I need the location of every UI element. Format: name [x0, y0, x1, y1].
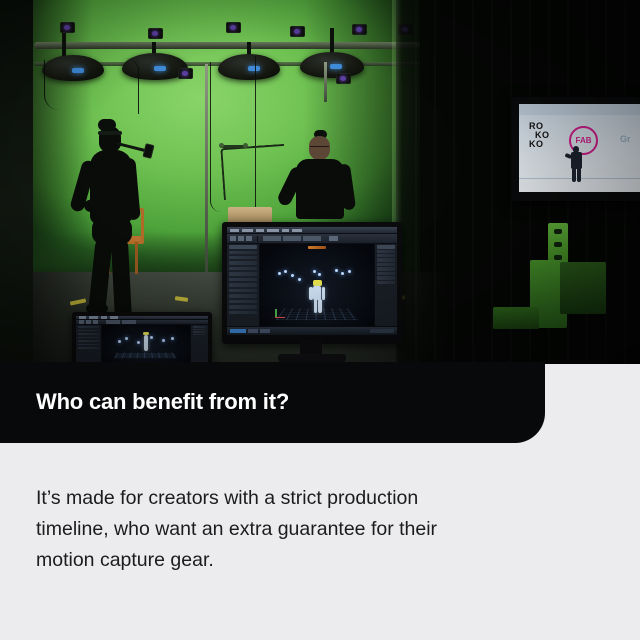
panel-row[interactable] — [229, 311, 257, 314]
panel-row[interactable] — [377, 258, 395, 261]
panel-row[interactable] — [229, 300, 257, 303]
mocap-marker — [284, 270, 287, 273]
menu-item[interactable] — [89, 316, 98, 319]
status-chip — [370, 329, 394, 333]
panel-row[interactable] — [229, 251, 257, 254]
lamp-status-led — [72, 68, 84, 73]
viewport-avatar-arm — [322, 287, 325, 300]
mocap-marker — [335, 269, 338, 272]
app-3d-viewport[interactable] — [102, 325, 190, 362]
wall-display-topbar — [519, 104, 640, 115]
hanging-cable — [210, 62, 221, 212]
panel-row[interactable] — [377, 263, 395, 266]
panel-row[interactable] — [78, 330, 99, 332]
app-3d-viewport-main[interactable] — [260, 244, 374, 326]
studio-left-dark-column — [0, 0, 33, 364]
light-stand-pole — [324, 62, 327, 102]
wall-display-figure-leg — [577, 167, 581, 182]
mocap-marker — [348, 270, 351, 273]
toolbar-button[interactable] — [122, 320, 136, 324]
mocap-marker — [137, 341, 140, 344]
toolbar-button[interactable] — [246, 236, 252, 241]
app-body — [227, 244, 397, 326]
menu-item[interactable] — [79, 316, 86, 319]
wall-display-ghost-text: Gr — [620, 134, 631, 144]
panel-header-row[interactable] — [377, 245, 395, 248]
wall-display-frame: RO KO KO FAB Gr — [512, 97, 640, 201]
mocap-marker — [313, 270, 316, 273]
panel-row[interactable] — [377, 254, 395, 257]
panel-row[interactable] — [229, 267, 257, 270]
mocap-camera — [226, 22, 241, 33]
wall-display-screen: RO KO KO FAB Gr — [519, 104, 640, 192]
mocap-software-window-main — [227, 227, 397, 335]
calibration-wand-shaft — [220, 144, 287, 200]
panel-row[interactable] — [78, 347, 99, 349]
page-root: RO KO KO FAB Gr — [0, 0, 640, 640]
panel-row[interactable] — [229, 272, 257, 275]
apple-box-handle-hole — [554, 229, 562, 234]
hanging-cable — [246, 56, 256, 224]
mocap-marker — [118, 340, 121, 343]
viewport-avatar-leg — [314, 299, 317, 313]
wall-display-figure-leg — [572, 167, 576, 182]
mocap-marker — [318, 273, 321, 276]
toolbar-button[interactable] — [79, 320, 84, 324]
rokoko-logo: RO KO KO — [529, 122, 550, 150]
primary-monitor-screen — [227, 227, 397, 335]
menu-item[interactable] — [267, 229, 279, 232]
calibration-wand-marker — [219, 143, 224, 148]
hanging-cable — [44, 60, 59, 110]
secondary-monitor-screen — [76, 316, 208, 364]
menu-item[interactable] — [101, 316, 107, 319]
panel-row[interactable] — [229, 289, 257, 292]
mocap-camera — [352, 24, 367, 35]
mocap-marker — [171, 337, 174, 340]
apple-box-handle-hole — [554, 242, 562, 247]
panel-row[interactable] — [78, 340, 99, 342]
mocap-marker — [150, 336, 153, 339]
mocap-camera — [148, 28, 163, 39]
panel-row[interactable] — [229, 256, 257, 259]
hanging-cable — [126, 58, 139, 114]
performer-with-mocap-suit — [68, 118, 178, 330]
mocap-camera — [60, 22, 75, 33]
panel-row[interactable] — [229, 294, 257, 297]
panel-row[interactable] — [377, 267, 395, 270]
toolbar-button[interactable] — [263, 236, 281, 241]
panel-row[interactable] — [377, 281, 395, 284]
app-toolbar[interactable] — [227, 234, 397, 244]
app-body — [76, 325, 208, 362]
panel-row[interactable] — [193, 334, 206, 336]
mocap-software-window — [76, 316, 208, 364]
panel-row[interactable] — [78, 326, 99, 328]
menu-item[interactable] — [292, 229, 302, 232]
viewport-axis-gizmo-x — [275, 317, 285, 319]
primary-monitor — [222, 222, 402, 364]
toolbar-separator — [257, 236, 258, 242]
menu-item[interactable] — [256, 229, 264, 232]
app-left-panel[interactable] — [227, 244, 260, 326]
panel-row[interactable] — [229, 261, 257, 264]
lamp-status-led — [154, 66, 166, 71]
studio-photo: RO KO KO FAB Gr — [0, 0, 640, 364]
panel-row[interactable] — [229, 283, 257, 286]
toolbar-button[interactable] — [283, 236, 301, 241]
toolbar-button[interactable] — [86, 320, 91, 324]
panel-header-row[interactable] — [229, 245, 257, 248]
secondary-monitor — [72, 312, 212, 364]
viewport-avatar-body — [144, 335, 148, 350]
panel-row[interactable] — [229, 278, 257, 281]
mocap-marker — [278, 272, 281, 275]
performer-leg-left — [88, 237, 113, 312]
panel-row[interactable] — [78, 344, 99, 346]
viewport-avatar-leg — [318, 299, 321, 313]
panel-row[interactable] — [78, 333, 99, 335]
body-paragraph: It’s made for creators with a strict pro… — [36, 483, 486, 576]
status-chip — [260, 329, 270, 333]
panel-row[interactable] — [229, 305, 257, 308]
lamp-status-led — [330, 64, 342, 69]
toolbar-button[interactable] — [230, 236, 236, 241]
app-right-panel[interactable] — [374, 244, 397, 326]
mocap-marker — [162, 339, 165, 342]
head-rig-strap — [98, 131, 122, 135]
app-right-panel[interactable] — [190, 325, 208, 362]
status-chip — [248, 329, 258, 333]
head-rig-camera — [142, 143, 154, 159]
apple-box-top-surface — [560, 262, 606, 314]
status-chip — [230, 329, 246, 333]
light-stand-pole — [205, 64, 208, 272]
menu-item[interactable] — [242, 229, 253, 232]
viewport-avatar-torso — [313, 286, 321, 300]
menu-item[interactable] — [282, 229, 289, 232]
toolbar-button[interactable] — [93, 320, 98, 324]
toolbar-button[interactable] — [303, 236, 321, 241]
viewport-timeline-chip[interactable] — [308, 246, 326, 249]
app-status-bar — [227, 326, 397, 335]
menu-item[interactable] — [110, 316, 118, 319]
toolbar-button[interactable] — [329, 236, 338, 241]
calibration-wand-marker — [243, 143, 248, 148]
app-left-panel[interactable] — [76, 325, 102, 362]
mocap-camera — [290, 26, 305, 37]
panel-row[interactable] — [377, 272, 395, 275]
panel-row[interactable] — [377, 276, 395, 279]
mocap-marker — [291, 274, 294, 277]
performer-hair-bun — [98, 119, 116, 131]
page-title: Who can benefit from it? — [36, 389, 289, 415]
mocap-marker — [125, 337, 128, 340]
menu-item[interactable] — [230, 229, 239, 232]
studio-light-fixture — [300, 52, 364, 78]
mocap-camera — [178, 68, 193, 79]
viewport-floor-grid — [276, 308, 358, 320]
panel-row[interactable] — [193, 329, 206, 331]
mocap-camera — [336, 73, 351, 84]
viewport-floor-grid — [114, 353, 177, 359]
rokoko-logo-line-3: KO — [529, 140, 550, 149]
viewport-avatar-arm — [309, 287, 312, 300]
panel-row[interactable] — [78, 337, 99, 339]
lighting-truss-bar — [34, 42, 420, 49]
apple-box-step — [493, 307, 539, 329]
toolbar-button[interactable] — [238, 236, 244, 241]
mocap-marker — [298, 278, 301, 281]
mocap-marker — [341, 272, 344, 275]
toolbar-button[interactable] — [106, 320, 120, 324]
panel-row[interactable] — [193, 331, 206, 333]
primary-monitor-stand-base — [278, 354, 346, 362]
app-menu-bar[interactable] — [227, 227, 397, 234]
panel-row[interactable] — [193, 326, 206, 328]
performer2-glasses — [310, 146, 329, 151]
panel-row[interactable] — [377, 250, 395, 253]
